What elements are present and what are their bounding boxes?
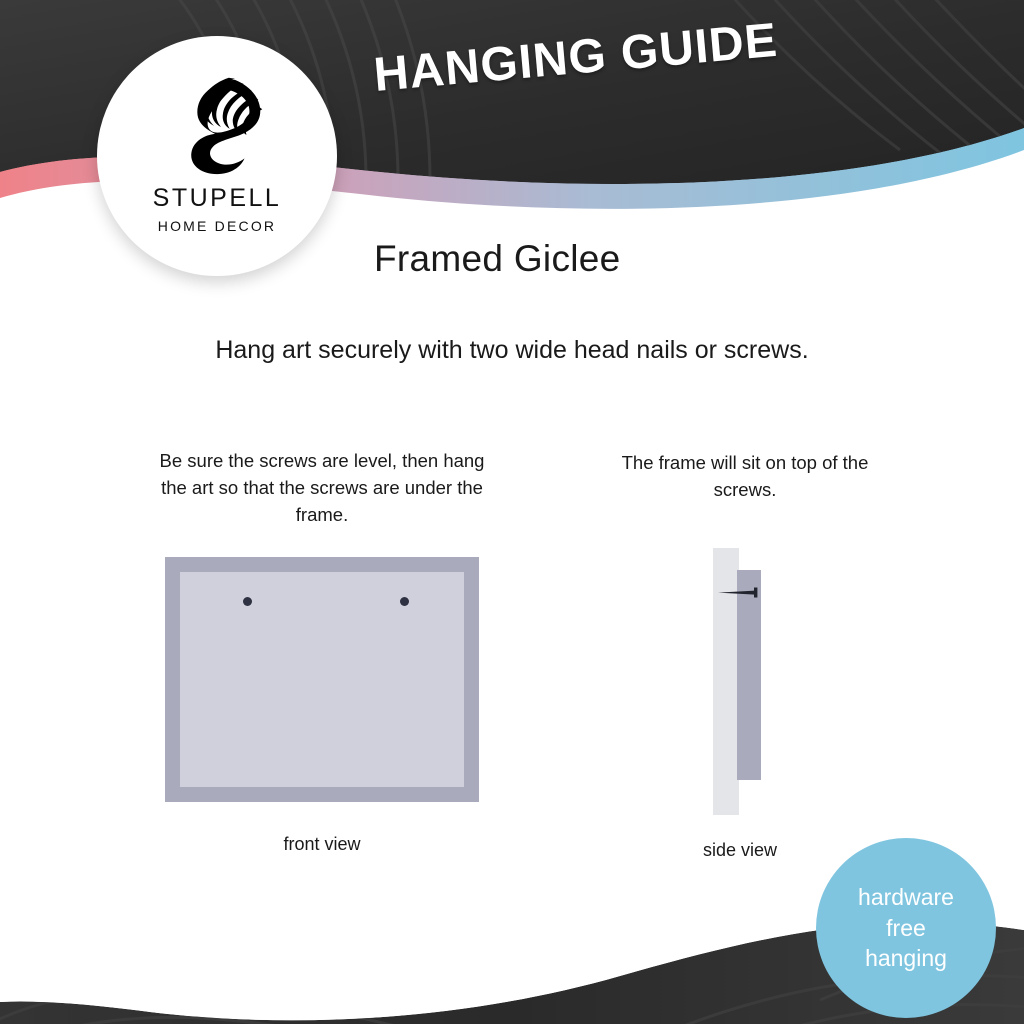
hanging-guide-poster: STUPELL HOME DECOR HANGING GUIDE Framed … [0,0,1024,1024]
hardware-free-hanging-badge: hardware free hanging [816,838,996,1018]
screw-dot-right-icon [400,597,409,606]
instruction-lede: Hang art securely with two wide head nai… [0,336,1024,365]
side-view-diagram [700,540,790,830]
side-view-label: side view [640,840,840,861]
front-view-art-panel [180,572,464,787]
page-title: HANGING GUIDE [372,3,895,103]
nail-icon [717,587,762,598]
badge-line-1: hardware [858,882,954,912]
product-type-title: Framed Giclee [374,238,621,280]
badge-line-3: hanging [865,943,947,973]
brand-name: STUPELL [153,186,282,211]
badge-line-2: free [886,913,926,943]
front-view-label: front view [165,834,479,855]
brand-logo-badge: STUPELL HOME DECOR [97,36,337,276]
screw-dot-left-icon [243,597,252,606]
front-view-diagram [165,557,479,802]
front-view-caption: Be sure the screws are level, then hang … [150,448,494,528]
side-view-caption: The frame will sit on top of the screws. [600,450,890,504]
stupell-swoosh-logo-icon [158,64,276,182]
side-view-frame [737,570,761,780]
brand-tagline: HOME DECOR [158,219,276,233]
